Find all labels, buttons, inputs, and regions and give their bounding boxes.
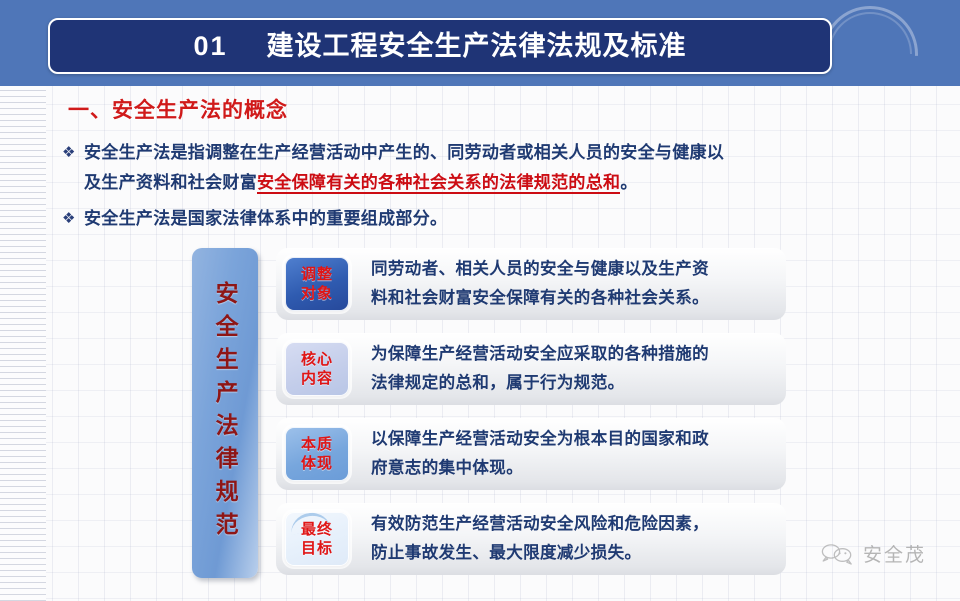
watermark-label: 安全茂 <box>863 540 926 567</box>
row-text-line1: 有效防范生产经营活动安全风险和危险因素， <box>371 510 772 539</box>
list-item: ❖ 安全生产法是指调整在生产经营活动中产生的、同劳动者或相关人员的安全与健康以 … <box>62 138 862 198</box>
title-number: 01 <box>193 31 227 61</box>
row-label-line2: 对象 <box>301 284 333 303</box>
row-description: 为保障生产经营活动安全应采取的各种措施的 法律规定的总和，属于行为规范。 <box>371 340 786 398</box>
title-plate: 01 建设工程安全生产法律法规及标准 <box>48 18 832 74</box>
slide: 01 建设工程安全生产法律法规及标准 一、安全生产法的概念 ❖ 安全生产法是指调… <box>0 0 960 601</box>
row-text-line2: 府意志的集中体现。 <box>371 454 772 483</box>
row-label-line1: 调整 <box>301 265 333 284</box>
row-bar: 本质 体现 以保障生产经营活动安全为根本目的国家和政 府意志的集中体现。 <box>276 418 786 490</box>
wechat-bubble-icon <box>820 542 854 566</box>
title-main-text: 建设工程安全生产法律法规及标准 <box>267 31 687 61</box>
bullet-highlight-segment: 安全保障有关的各种社会关系的法律规范的总和 <box>257 173 620 194</box>
row-label-line2: 目标 <box>301 539 333 558</box>
row-description: 以保障生产经营活动安全为根本目的国家和政 府意志的集中体现。 <box>371 425 786 483</box>
row-description: 同劳动者、相关人员的安全与健康以及生产资 料和社会财富安全保障有关的各种社会关系… <box>371 255 786 313</box>
row-label-line1: 核心 <box>301 350 333 369</box>
bullet-text-segment: 安全生产法是指调整在生产经营活动中产生的、同劳动者或相关人员的安全与健康以 <box>84 143 724 162</box>
bullet-list: ❖ 安全生产法是指调整在生产经营活动中产生的、同劳动者或相关人员的安全与健康以 … <box>62 138 862 240</box>
bullet-text-segment: 及生产资料和社会财富 <box>84 173 257 192</box>
bullet-text-segment: 。 <box>620 173 637 192</box>
concept-diagram: 安全生产法律规范 调整 对象 同劳动者、相关人员的安全与健康以及生产资 料和社会… <box>192 248 812 586</box>
row-label-badge: 最终 目标 <box>285 512 349 566</box>
row-text-line2: 法律规定的总和，属于行为规范。 <box>371 369 772 398</box>
list-item: ❖ 安全生产法是国家法律体系中的重要组成部分。 <box>62 204 862 234</box>
bullet-line: 及生产资料和社会财富安全保障有关的各种社会关系的法律规范的总和。 <box>84 168 862 198</box>
diagram-rows: 调整 对象 同劳动者、相关人员的安全与健康以及生产资 料和社会财富安全保障有关的… <box>276 248 796 588</box>
row-label-line2: 内容 <box>301 369 333 388</box>
table-row: 调整 对象 同劳动者、相关人员的安全与健康以及生产资 料和社会财富安全保障有关的… <box>276 248 796 320</box>
bullet-line: 安全生产法是国家法律体系中的重要组成部分。 <box>84 204 862 234</box>
decorative-arc-inner-icon <box>828 12 912 86</box>
bullet-body: 安全生产法是国家法律体系中的重要组成部分。 <box>84 204 862 234</box>
row-bar: 调整 对象 同劳动者、相关人员的安全与健康以及生产资 料和社会财富安全保障有关的… <box>276 248 786 320</box>
bullet-line: 安全生产法是指调整在生产经营活动中产生的、同劳动者或相关人员的安全与健康以 <box>84 138 862 168</box>
row-text-line1: 同劳动者、相关人员的安全与健康以及生产资 <box>371 255 772 284</box>
watermark: 安全茂 <box>820 540 926 567</box>
row-label-badge: 调整 对象 <box>285 257 349 311</box>
table-row: 本质 体现 以保障生产经营活动安全为根本目的国家和政 府意志的集中体现。 <box>276 418 796 490</box>
row-text-line1: 以保障生产经营活动安全为根本目的国家和政 <box>371 425 772 454</box>
row-text-line2: 料和社会财富安全保障有关的各种社会关系。 <box>371 284 772 313</box>
table-row: 最终 目标 有效防范生产经营活动安全风险和危险因素， 防止事故发生、最大限度减少… <box>276 503 796 575</box>
page-title: 01 建设工程安全生产法律法规及标准 <box>193 33 686 60</box>
row-bar: 最终 目标 有效防范生产经营活动安全风险和危险因素， 防止事故发生、最大限度减少… <box>276 503 786 575</box>
background-left-stripe-texture <box>0 0 46 601</box>
table-row: 核心 内容 为保障生产经营活动安全应采取的各种措施的 法律规定的总和，属于行为规… <box>276 333 796 405</box>
row-text-line2: 防止事故发生、最大限度减少损失。 <box>371 539 772 568</box>
vertical-panel-label: 安全生产法律规范 <box>213 281 237 545</box>
bullet-text-segment: 安全生产法是国家法律体系中的重要组成部分。 <box>84 209 447 228</box>
row-label-line1: 本质 <box>301 435 333 454</box>
diamond-bullet-icon: ❖ <box>62 204 84 234</box>
row-label-badge: 本质 体现 <box>285 427 349 481</box>
row-text-line1: 为保障生产经营活动安全应采取的各种措施的 <box>371 340 772 369</box>
row-label-line2: 体现 <box>301 454 333 473</box>
diamond-bullet-icon: ❖ <box>62 138 84 168</box>
row-description: 有效防范生产经营活动安全风险和危险因素， 防止事故发生、最大限度减少损失。 <box>371 510 786 568</box>
row-label-badge: 核心 内容 <box>285 342 349 396</box>
vertical-category-panel: 安全生产法律规范 <box>192 248 258 578</box>
bullet-body: 安全生产法是指调整在生产经营活动中产生的、同劳动者或相关人员的安全与健康以 及生… <box>84 138 862 198</box>
row-bar: 核心 内容 为保障生产经营活动安全应采取的各种措施的 法律规定的总和，属于行为规… <box>276 333 786 405</box>
section-heading: 一、安全生产法的概念 <box>68 94 288 124</box>
